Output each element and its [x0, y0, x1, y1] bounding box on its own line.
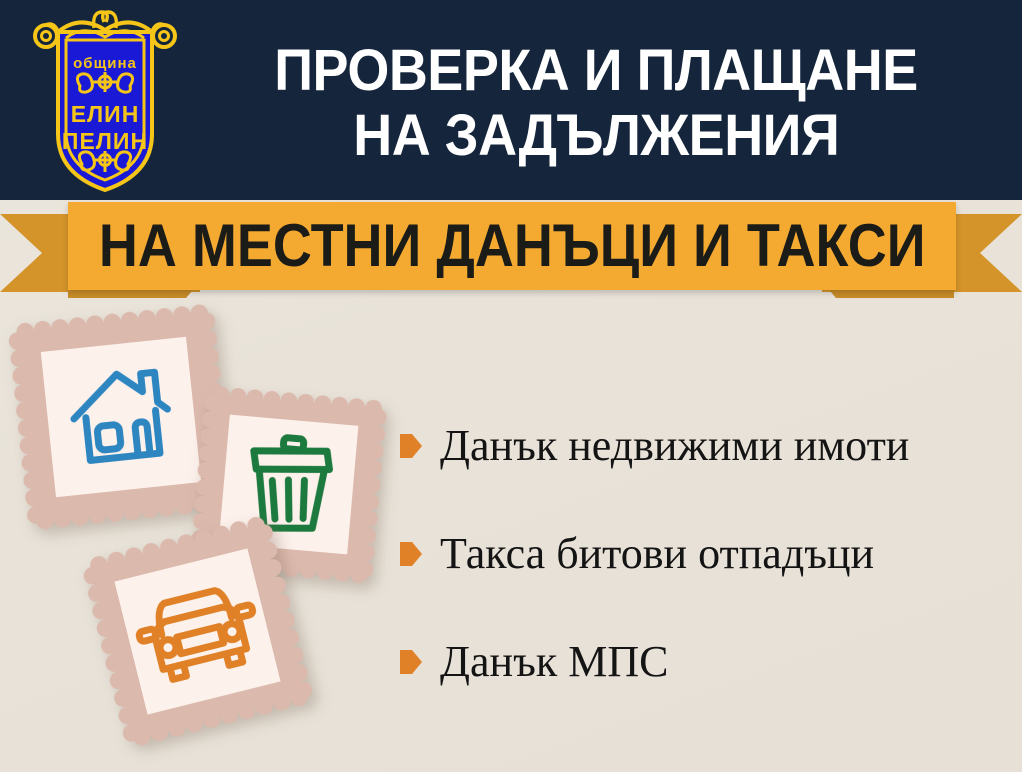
ribbon-text: НА МЕСТНИ ДАНЪЦИ И ТАКСИ: [99, 216, 926, 276]
bullet-arrow-icon: [400, 542, 422, 566]
list-item[interactable]: Данък недвижими имоти: [400, 418, 1012, 474]
svg-text:ПЕЛИН: ПЕЛИН: [62, 128, 148, 154]
poster-title-line2: НА ЗАДЪЛЖЕНИЯ: [353, 106, 839, 165]
ribbon-band: НА МЕСТНИ ДАНЪЦИ И ТАКСИ: [68, 202, 956, 290]
poster-root: община ЕЛИН ПЕЛИН: [0, 0, 1022, 772]
tax-type-list: Данък недвижими имоти Такса битови отпад…: [400, 418, 1012, 742]
subtitle-ribbon: НА МЕСТНИ ДАНЪЦИ И ТАКСИ: [0, 196, 1022, 300]
crest-icon: община ЕЛИН ПЕЛИН: [30, 6, 180, 196]
bullet-arrow-icon: [400, 434, 422, 458]
municipality-crest: община ЕЛИН ПЕЛИН: [30, 6, 180, 196]
poster-title: ПРОВЕРКА И ПЛАЩАНЕ НА ЗАДЪЛЖЕНИЯ: [190, 18, 1002, 188]
bullet-arrow-icon: [400, 650, 422, 674]
list-item-label: Данък недвижими имоти: [440, 424, 909, 468]
list-item[interactable]: Данък МПС: [400, 634, 1012, 690]
poster-title-line1: ПРОВЕРКА И ПЛАЩАНЕ: [274, 41, 918, 100]
list-item-label: Данък МПС: [440, 640, 668, 684]
list-item-label: Такса битови отпадъци: [440, 532, 874, 576]
svg-text:община: община: [73, 55, 137, 72]
list-item[interactable]: Такса битови отпадъци: [400, 526, 1012, 582]
poster-header: община ЕЛИН ПЕЛИН: [0, 0, 1022, 200]
svg-text:ЕЛИН: ЕЛИН: [71, 101, 140, 127]
